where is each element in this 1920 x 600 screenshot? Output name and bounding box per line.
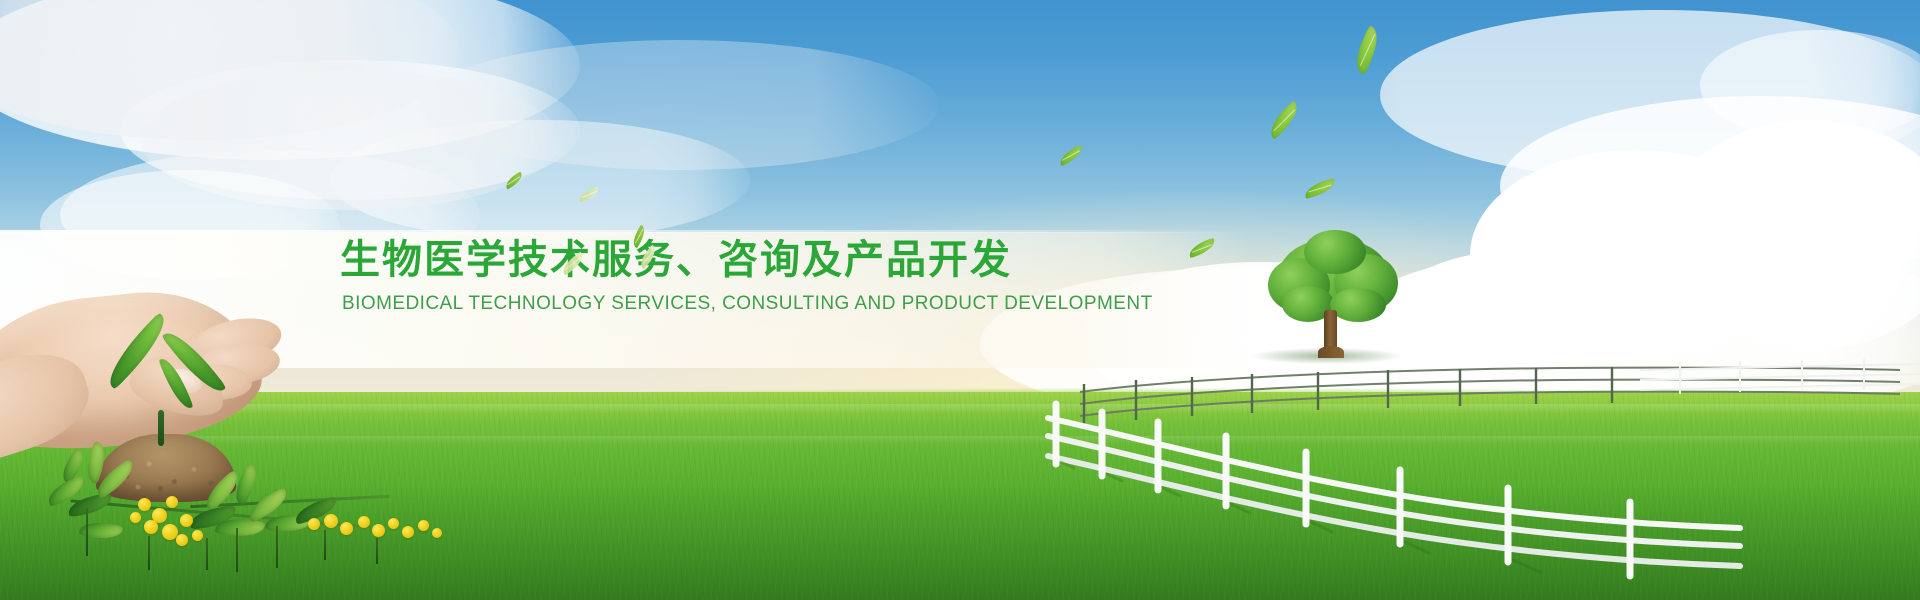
blossom-1 [138,498,151,511]
blossom-18 [432,528,442,538]
blossom-11 [324,514,338,528]
foreground-flora [40,452,470,600]
blossom-16 [402,526,414,538]
flora-stem-d [148,536,150,570]
flora-leaf-a4 [67,493,113,517]
flora-stem-f [324,530,326,560]
flora-stem-g [376,538,378,564]
flora-stem-e [206,538,208,570]
blossom-13 [358,516,370,528]
blossom-8 [176,534,188,546]
blossom-4 [144,520,158,534]
hand-with-seedling [0,148,320,430]
page-title-cn: 生物医学技术服务、咨询及产品开发 [340,236,1220,285]
blossom-10 [308,518,320,530]
blossom-6 [180,514,193,527]
blossom-12 [340,522,353,535]
flora-stem-b [236,528,238,572]
blossom-14 [372,524,385,537]
biomedical-hero-banner: 生物医学技术服务、咨询及产品开发 BIOMEDICAL TECHNOLOGY S… [0,0,1920,600]
title-block: 生物医学技术服务、咨询及产品开发 BIOMEDICAL TECHNOLOGY S… [340,236,1220,316]
page-subtitle-en: BIOMEDICAL TECHNOLOGY SERVICES, CONSULTI… [342,293,1220,316]
blossom-17 [418,520,429,531]
tree-canopy-top [1304,230,1366,274]
fence-far-segment [1080,368,1900,416]
blossom-15 [388,518,399,529]
flora-stem-c [276,526,278,568]
blossom-7 [130,512,141,523]
blossom-9 [192,530,203,541]
cirrus-centre [420,40,940,170]
fence-distant-white [1640,359,1920,394]
blossom-3 [166,496,178,508]
seedling-stem [158,410,164,446]
flora-stem-a [86,508,88,556]
